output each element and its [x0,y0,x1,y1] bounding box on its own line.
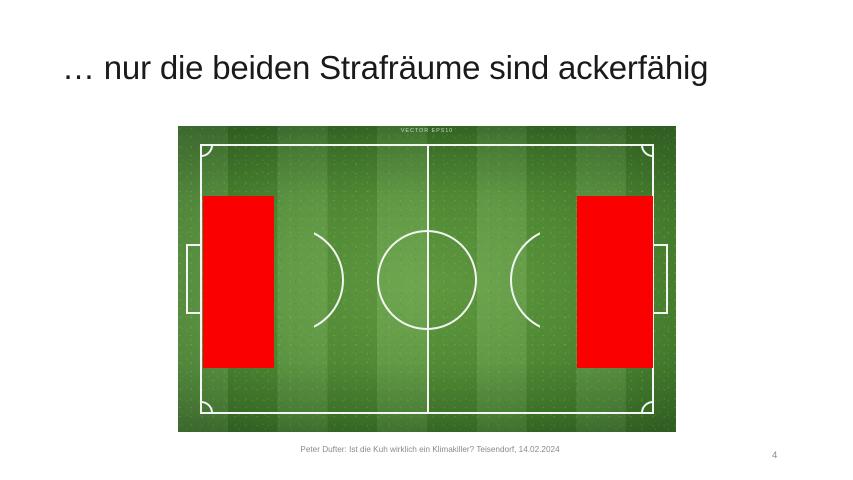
center-circle [377,230,477,330]
slide-page-number: 4 [772,450,802,461]
highlight-penalty-area-right [577,196,653,368]
presentation-slide: { "slide": { "title": "… nur die beiden … [0,0,853,480]
slide-footer-text: Peter Dufter: Ist die Kuh wirklich ein K… [230,444,630,456]
highlight-penalty-area-left [203,196,274,368]
page-title: … nur die beiden Strafräume sind ackerfä… [62,48,802,88]
goal-right [652,244,668,314]
goal-left [186,244,202,314]
soccer-pitch-figure: VECTOR EPS10 [178,126,676,432]
